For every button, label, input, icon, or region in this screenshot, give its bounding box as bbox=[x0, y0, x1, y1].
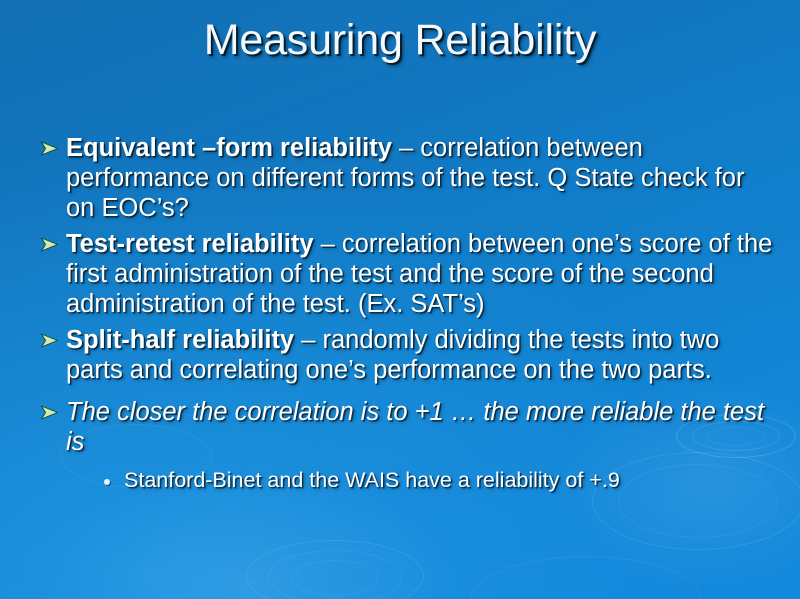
slide-canvas: Measuring Reliability Equivalent –form r… bbox=[0, 0, 800, 599]
list-item-lead: Test-retest reliability bbox=[66, 230, 314, 258]
list-item: Split-half reliability – randomly dividi… bbox=[36, 326, 776, 386]
arrow-bullet-icon bbox=[40, 236, 59, 253]
list-item-separator: – bbox=[294, 326, 322, 354]
list-item-lead: Equivalent –form reliability bbox=[66, 134, 392, 162]
list-item: Equivalent –form reliability – correlati… bbox=[36, 134, 776, 224]
list-item-lead: Split-half reliability bbox=[66, 326, 294, 354]
list-item-separator: – bbox=[314, 230, 342, 258]
bullet-list: Equivalent –form reliability – correlati… bbox=[36, 134, 776, 493]
sub-list-item-text: Stanford-Binet and the WAIS have a relia… bbox=[124, 468, 620, 492]
arrow-bullet-icon bbox=[40, 404, 59, 421]
list-item-text: The closer the correlation is to +1 … th… bbox=[66, 398, 764, 456]
list-item-separator: – bbox=[392, 134, 420, 162]
ripple-watermark bbox=[292, 560, 378, 596]
dot-bullet-icon bbox=[104, 479, 110, 485]
list-item: The closer the correlation is to +1 … th… bbox=[36, 398, 776, 458]
page-title: Measuring Reliability bbox=[0, 18, 800, 63]
ripple-watermark bbox=[268, 550, 402, 599]
arrow-bullet-icon bbox=[40, 332, 59, 349]
ripple-watermark bbox=[246, 540, 424, 599]
list-item: Stanford-Binet and the WAIS have a relia… bbox=[98, 468, 776, 494]
ripple-watermark bbox=[470, 556, 702, 599]
arrow-bullet-icon bbox=[40, 140, 59, 157]
list-item: Test-retest reliability – correlation be… bbox=[36, 230, 776, 320]
